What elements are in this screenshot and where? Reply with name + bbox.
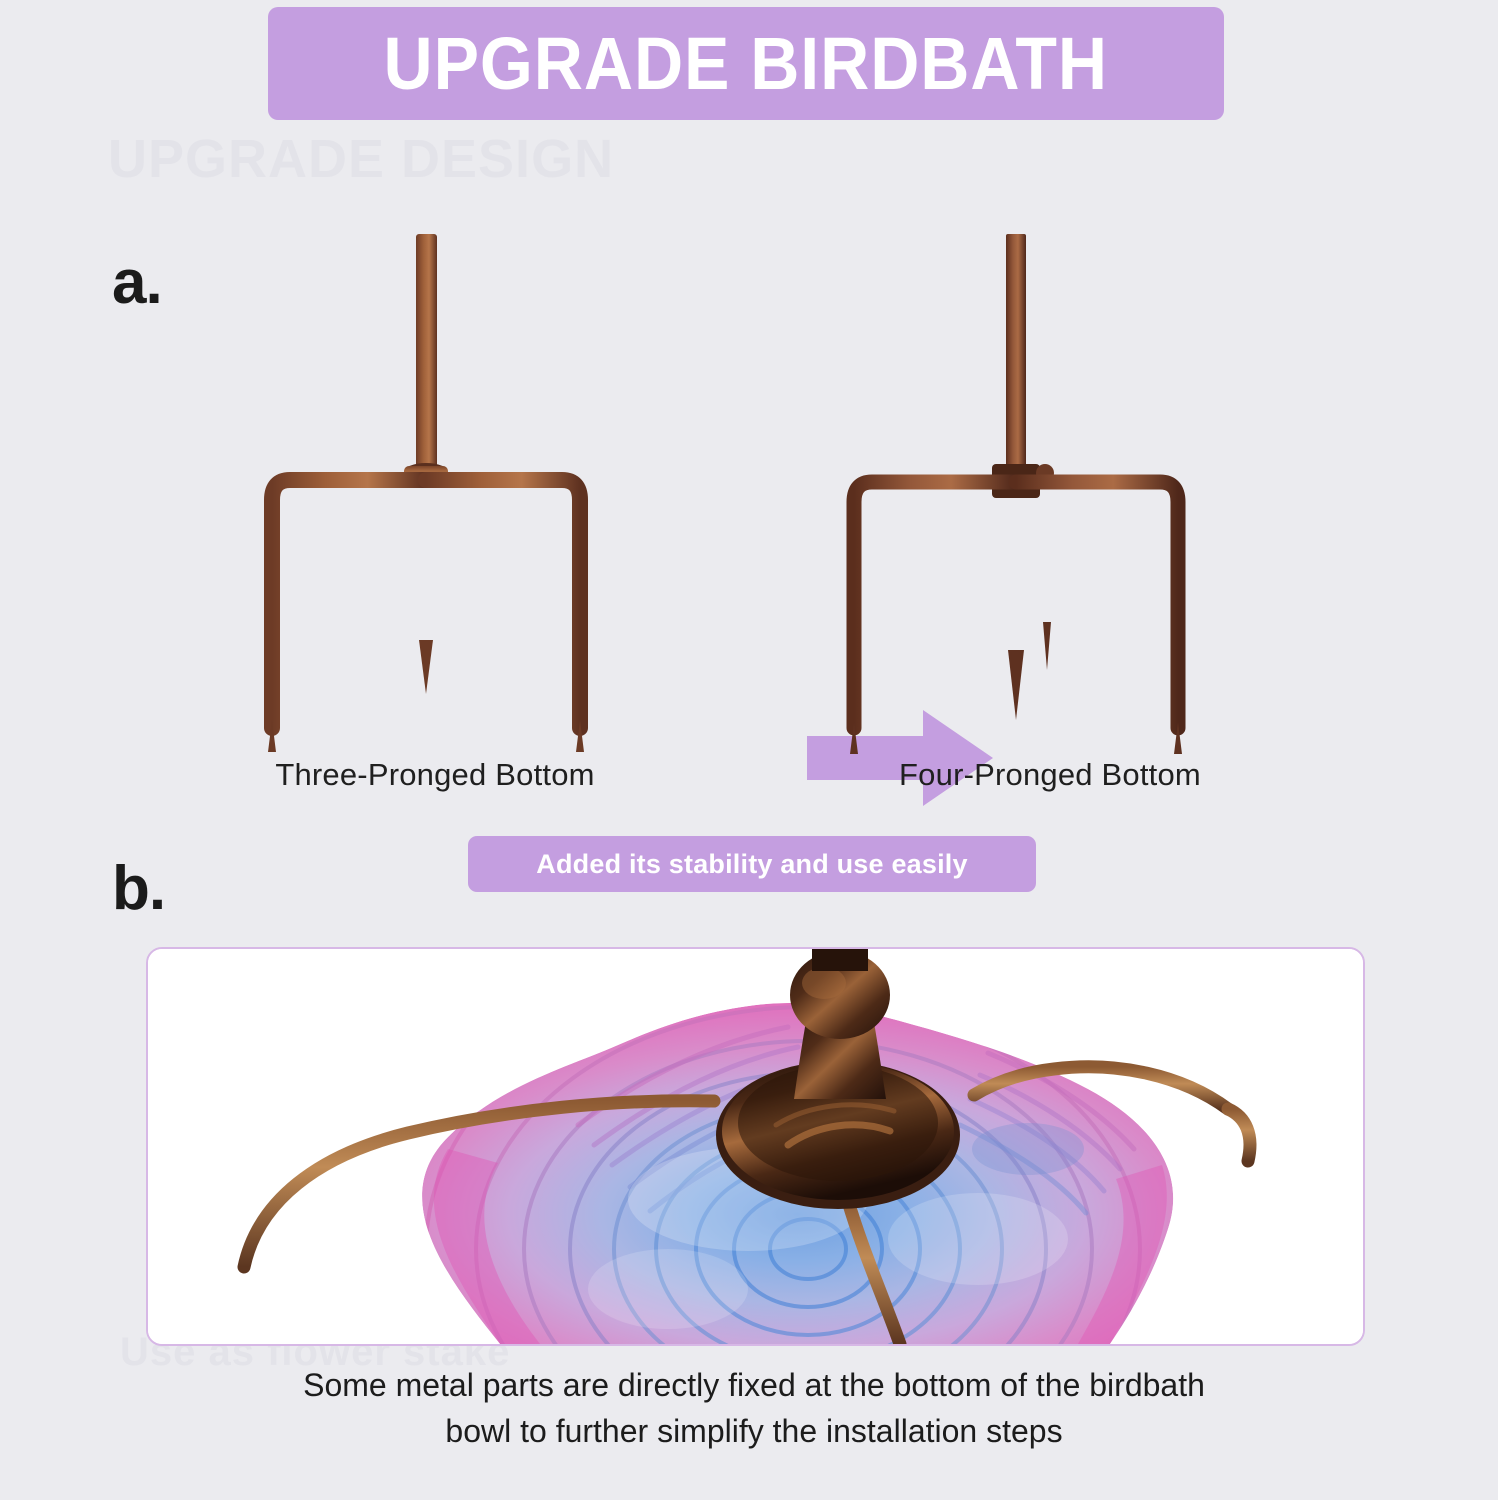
stability-banner: Added its stability and use easily (468, 836, 1036, 892)
birdbath-bowl-photo (146, 947, 1365, 1346)
four-pronged-stake-icon (810, 230, 1230, 760)
watermark-top: UPGRADE DESIGN (108, 128, 614, 190)
photo-caption-line-2: bowl to further simplify the installatio… (149, 1408, 1359, 1454)
title-banner: UPGRADE BIRDBATH (268, 7, 1224, 120)
page-title: UPGRADE BIRDBATH (384, 27, 1109, 101)
three-pronged-caption: Three-Pronged Bottom (175, 757, 695, 793)
four-pronged-caption: Four-Pronged Bottom (790, 757, 1310, 793)
stake-comparison-row: Upgrade (150, 230, 1350, 800)
stability-banner-text: Added its stability and use easily (536, 849, 967, 880)
step-letter-b: b. (112, 858, 165, 920)
infographic-root: UPGRADE DESIGN Use as flower stake UPGRA… (0, 0, 1498, 1500)
three-pronged-stake-icon (220, 230, 640, 760)
photo-caption-line-1: Some metal parts are directly fixed at t… (149, 1362, 1359, 1408)
photo-caption: Some metal parts are directly fixed at t… (149, 1362, 1359, 1455)
